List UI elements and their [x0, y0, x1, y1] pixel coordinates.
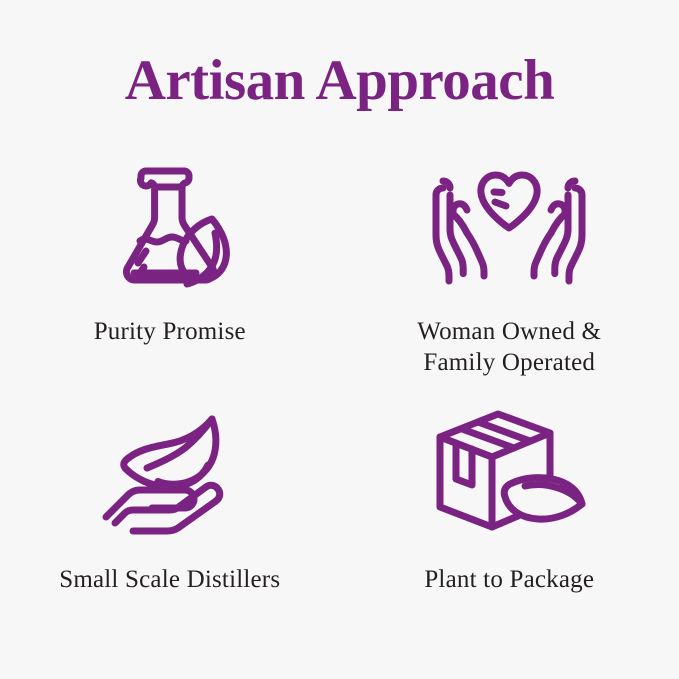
box-leaf-icon — [419, 410, 599, 530]
feature-label: Woman Owned & Family Operated — [417, 316, 601, 378]
feature-item-woman-owned: Woman Owned & Family Operated — [340, 150, 679, 400]
feature-label: Plant to Package — [424, 564, 594, 595]
leaf-in-hand-icon — [80, 410, 260, 530]
feature-item-plant-to-package: Plant to Package — [340, 400, 679, 650]
feature-item-purity-promise: Purity Promise — [0, 150, 340, 400]
hands-heart-icon — [419, 158, 599, 288]
artisan-approach-panel: Artisan Approach — [0, 0, 679, 679]
feature-grid: Purity Promise — [0, 150, 679, 650]
feature-label: Small Scale Distillers — [59, 564, 280, 595]
feature-item-small-scale-distillers: Small Scale Distillers — [0, 400, 340, 650]
feature-label: Purity Promise — [94, 316, 246, 347]
page-title: Artisan Approach — [0, 48, 679, 114]
flask-leaf-icon — [80, 158, 260, 288]
